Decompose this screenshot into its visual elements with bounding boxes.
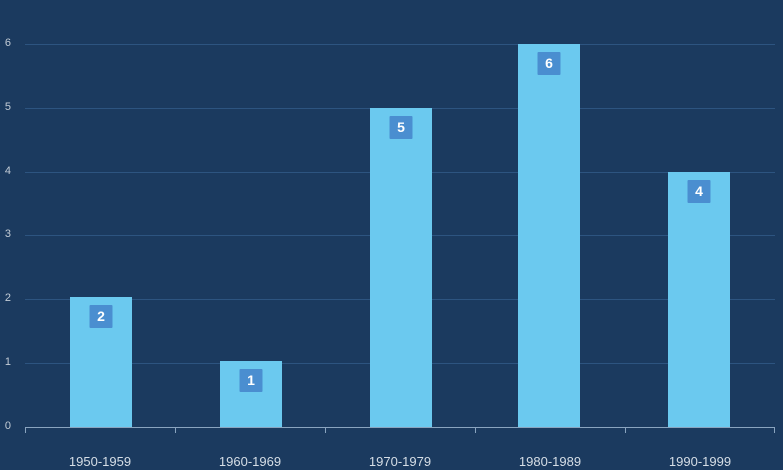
- xtick-label-1950-1959: 1950-1959: [25, 454, 175, 470]
- gridline-6: 6: [25, 44, 775, 45]
- xtick-label-1960-1969: 1960-1969: [175, 454, 325, 470]
- bar-1970-1979[interactable]: 5: [370, 108, 432, 427]
- xtick-mark: [625, 427, 626, 433]
- bar-value-label: 5: [390, 116, 413, 139]
- xtick-mark: [774, 427, 775, 433]
- bar-value-label: 4: [688, 180, 711, 203]
- xtick-mark: [325, 427, 326, 433]
- ytick-label-0: 0: [0, 421, 11, 432]
- ytick-label-4: 4: [0, 166, 11, 177]
- ytick-label-1: 1: [0, 357, 11, 368]
- xtick-mark: [175, 427, 176, 433]
- plot-area: 6 5 4 3 2 1 0 2 1 5 6: [25, 20, 775, 427]
- ytick-label-2: 2: [0, 293, 11, 304]
- xtick-label-1970-1979: 1970-1979: [325, 454, 475, 470]
- ytick-label-3: 3: [0, 229, 11, 240]
- ytick-label-6: 6: [0, 38, 11, 49]
- ytick-label-5: 5: [0, 102, 11, 113]
- bar-1960-1969[interactable]: 1: [220, 361, 282, 427]
- xtick-mark: [25, 427, 26, 433]
- bar-1950-1959[interactable]: 2: [70, 297, 132, 427]
- bar-1990-1999[interactable]: 4: [668, 172, 730, 427]
- axis-baseline: 0: [25, 427, 775, 428]
- xtick-mark: [475, 427, 476, 433]
- bar-chart: 6 5 4 3 2 1 0 2 1 5 6: [0, 0, 783, 464]
- bar-value-label: 1: [240, 369, 263, 392]
- xtick-label-1980-1989: 1980-1989: [475, 454, 625, 470]
- bar-1980-1989[interactable]: 6: [518, 44, 580, 427]
- bar-value-label: 2: [90, 305, 113, 328]
- xtick-label-1990-1999: 1990-1999: [625, 454, 775, 470]
- bar-value-label: 6: [538, 52, 561, 75]
